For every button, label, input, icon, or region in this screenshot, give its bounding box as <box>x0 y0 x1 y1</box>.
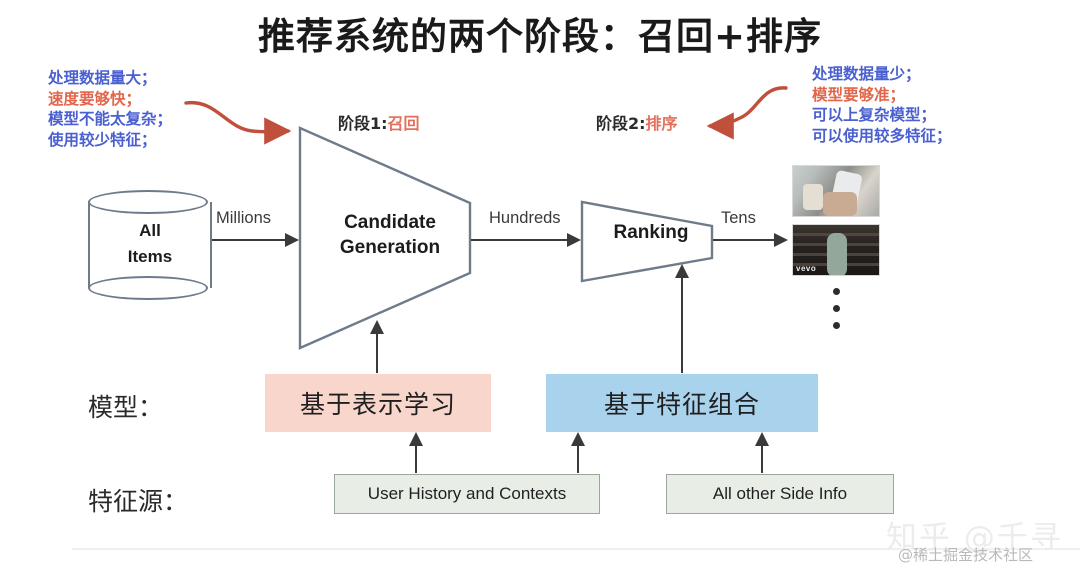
all-items-line2: Items <box>88 244 212 270</box>
note-line: 使用较少特征； <box>48 130 172 151</box>
stage2-highlight: 排序 <box>646 114 678 133</box>
model-box-feature-combination: 基于特征组合 <box>546 374 818 432</box>
stage2-prefix: 阶段2: <box>596 114 646 133</box>
ellipsis-dot <box>833 322 840 329</box>
result-thumbnail-vevo-video: vevo <box>792 224 880 276</box>
note-line: 处理数据量少； <box>812 64 952 85</box>
feature-box-side-info: All other Side Info <box>666 474 894 514</box>
row-label-feature: 特征源： <box>88 482 188 518</box>
diagram-canvas: 推荐系统的两个阶段：召回+排序 <box>0 0 1080 578</box>
model-box-representation-learning: 基于表示学习 <box>265 374 491 432</box>
flow-label-tens: Tens <box>721 209 756 228</box>
coffee-cup-shape <box>803 184 823 210</box>
recall-stage-notes: 处理数据量大； 速度要够快； 模型不能太复杂； 使用较少特征； <box>48 68 172 150</box>
note-line: 模型不能太复杂； <box>48 109 172 130</box>
ellipsis-dot <box>833 305 840 312</box>
all-items-datastore: All Items <box>88 190 210 300</box>
juejin-watermark: @稀土掘金技术社区 <box>898 544 1033 565</box>
row-label-model: 模型： <box>88 388 163 424</box>
candidate-generation-label: Candidate Generation <box>300 210 480 260</box>
candidate-line2: Generation <box>300 235 480 260</box>
ranking-stage-notes: 处理数据量少； 模型要够准； 可以上复杂模型； 可以使用较多特征； <box>812 64 952 146</box>
ranking-label: Ranking <box>596 220 706 245</box>
vevo-watermark: vevo <box>796 264 816 273</box>
cylinder-top-ellipse <box>88 190 208 214</box>
red-arrow-left <box>186 103 288 132</box>
stage1-prefix: 阶段1: <box>338 114 388 133</box>
page-title: 推荐系统的两个阶段：召回+排序 <box>0 6 1080 60</box>
hand-shape <box>823 192 857 216</box>
note-line: 可以使用较多特征； <box>812 126 952 147</box>
stage2-label: 阶段2:排序 <box>596 110 678 134</box>
all-items-line1: All <box>88 218 212 244</box>
ellipsis-dot <box>833 288 840 295</box>
cylinder-bottom-ellipse <box>88 276 208 300</box>
all-items-label: All Items <box>88 218 212 270</box>
result-thumbnail-phone-image <box>792 165 880 217</box>
candidate-line1: Candidate <box>300 210 480 235</box>
performer-silhouette <box>827 233 847 276</box>
note-line-highlight: 速度要够快； <box>48 89 172 110</box>
note-line: 处理数据量大； <box>48 68 172 89</box>
red-arrow-right <box>710 88 786 126</box>
feature-box-user-history: User History and Contexts <box>334 474 600 514</box>
flow-label-millions: Millions <box>216 209 271 228</box>
note-line: 可以上复杂模型； <box>812 105 952 126</box>
stage1-highlight: 召回 <box>388 114 420 133</box>
note-line-highlight: 模型要够准； <box>812 85 952 106</box>
flow-label-hundreds: Hundreds <box>489 209 561 228</box>
stage1-label: 阶段1:召回 <box>338 110 420 134</box>
